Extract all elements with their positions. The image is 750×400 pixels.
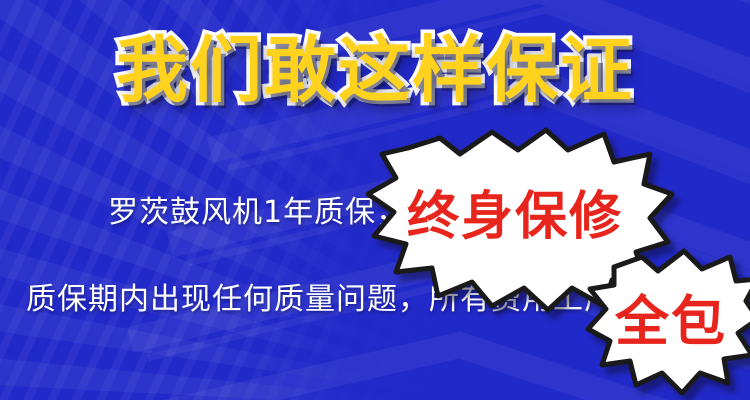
warranty-line-1: 罗茨鼓风机1年质保， <box>108 198 407 228</box>
page-title: 我们敢这样保证 <box>0 34 750 106</box>
all-inclusive-burst: 全包 <box>588 243 750 393</box>
promo-banner: 我们敢这样保证 罗茨鼓风机1年质保， 质保期内出现任何质量问题，所有费用工厂 终… <box>0 0 750 400</box>
starburst-shape-icon <box>588 243 750 393</box>
